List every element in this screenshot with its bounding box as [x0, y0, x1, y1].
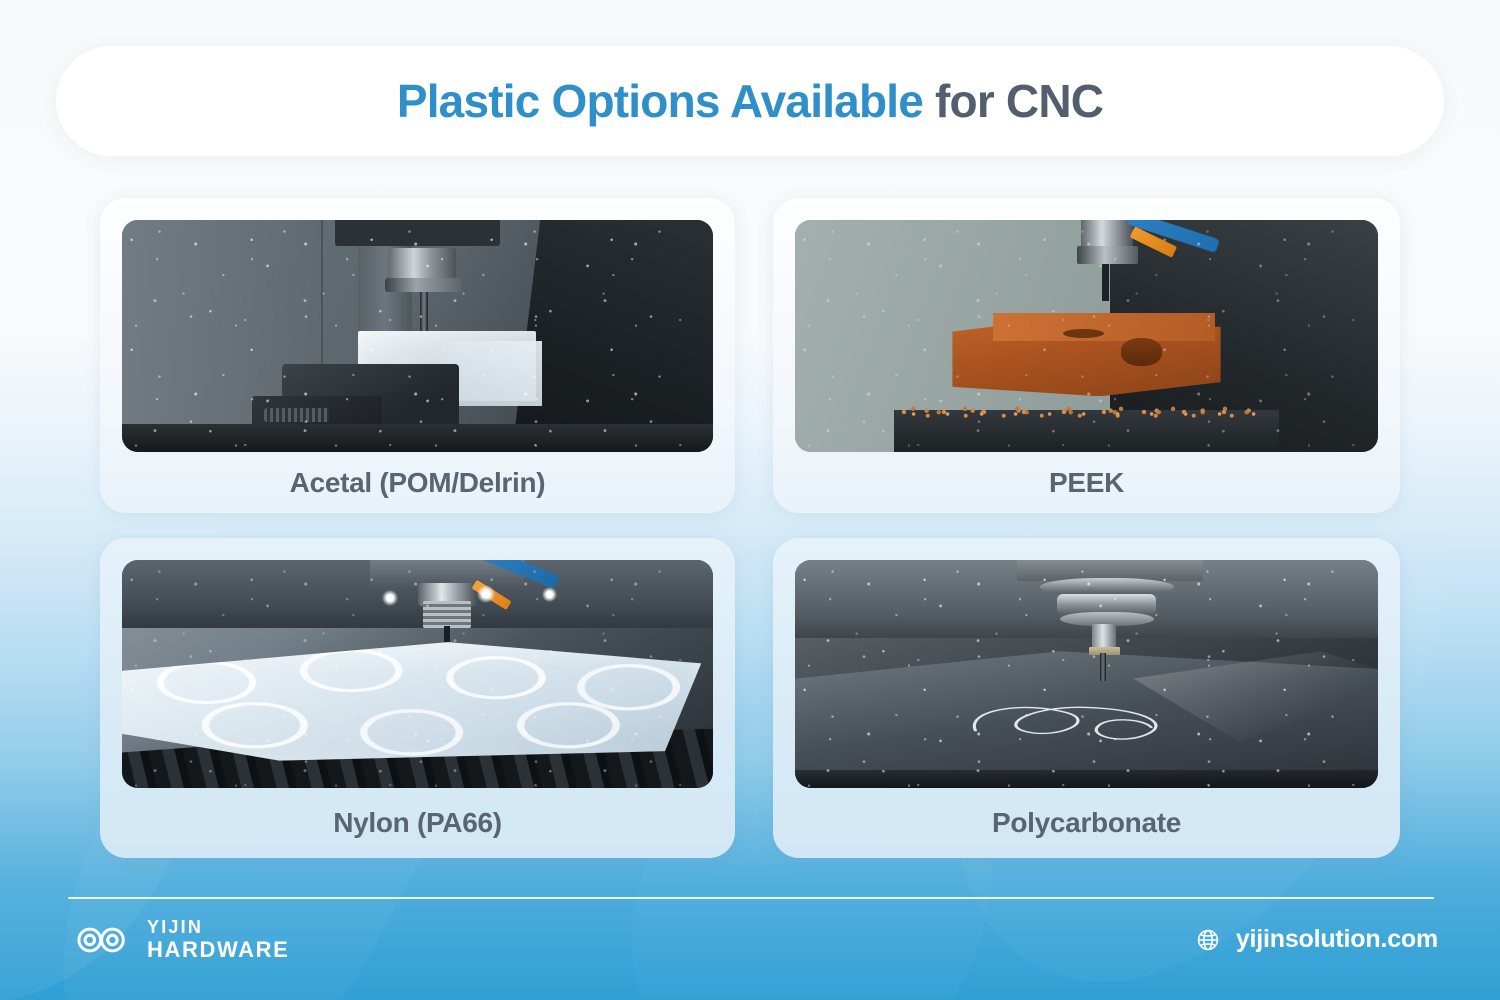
plastic-card-polycarbonate[interactable]: Polycarbonate [773, 538, 1400, 858]
plastic-card-nylon[interactable]: Nylon (PA66) [100, 538, 735, 858]
plastic-options-grid: Acetal (POM/Delrin) [100, 198, 1400, 858]
website-link[interactable]: yijinsolution.com [1196, 925, 1438, 954]
brand-logo[interactable]: YIJIN HARDWARE [72, 918, 289, 961]
acetal-machining-photo [122, 220, 713, 452]
page-title-rest: for CNC [923, 75, 1103, 127]
nylon-machining-photo [122, 560, 713, 788]
plastic-card-label: Nylon (PA66) [122, 788, 713, 858]
page-title: Plastic Options Available for CNC [397, 78, 1103, 124]
globe-icon [1196, 928, 1220, 952]
plastic-card-label: Polycarbonate [795, 788, 1378, 858]
footer-divider [68, 897, 1434, 899]
infinity-double-ring-logo [72, 923, 134, 957]
peek-machining-photo [795, 220, 1378, 452]
plastic-card-peek[interactable]: PEEK [773, 198, 1400, 513]
polycarbonate-machining-photo [795, 560, 1378, 788]
plastic-card-label: Acetal (POM/Delrin) [122, 452, 713, 513]
plastic-card-label: PEEK [795, 452, 1378, 513]
brand-line-2: HARDWARE [147, 939, 289, 961]
brand-line-1: YIJIN [147, 918, 289, 936]
page-title-accent: Plastic Options Available [397, 75, 923, 127]
infographic-page: Plastic Options Available for CNC [0, 0, 1500, 1000]
website-url: yijinsolution.com [1236, 925, 1438, 954]
header-banner: Plastic Options Available for CNC [56, 46, 1444, 156]
plastic-card-acetal[interactable]: Acetal (POM/Delrin) [100, 198, 735, 513]
